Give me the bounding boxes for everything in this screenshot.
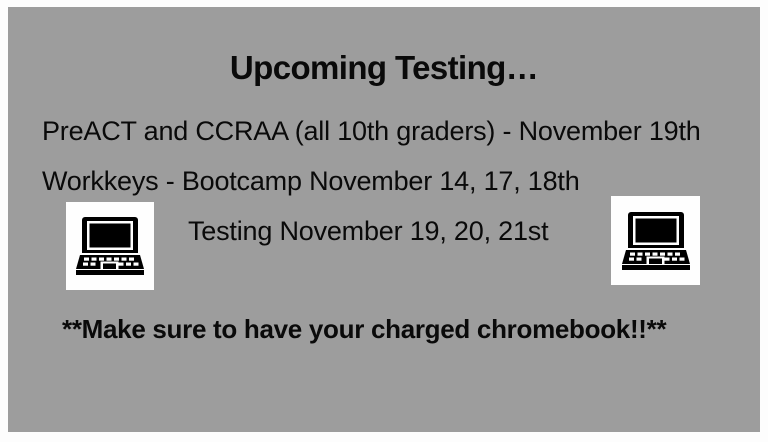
slide-canvas: Upcoming Testing… PreACT and CCRAA (all … [8,7,760,432]
testing-line-workkeys: Workkeys - Bootcamp November 14, 17, 18t… [42,168,580,195]
laptop-image-right [611,196,700,285]
page-title: Upcoming Testing… [8,51,760,84]
laptop-image-left [66,202,154,290]
slide-root: Upcoming Testing… PreACT and CCRAA (all … [0,0,768,442]
chromebook-reminder: **Make sure to have your charged chromeb… [62,316,666,342]
laptop-icon [621,210,691,272]
testing-line-testing-dates: Testing November 19, 20, 21st [188,218,548,245]
laptop-icon [75,215,145,277]
testing-line-preact: PreACT and CCRAA (all 10th graders) - No… [42,118,701,145]
